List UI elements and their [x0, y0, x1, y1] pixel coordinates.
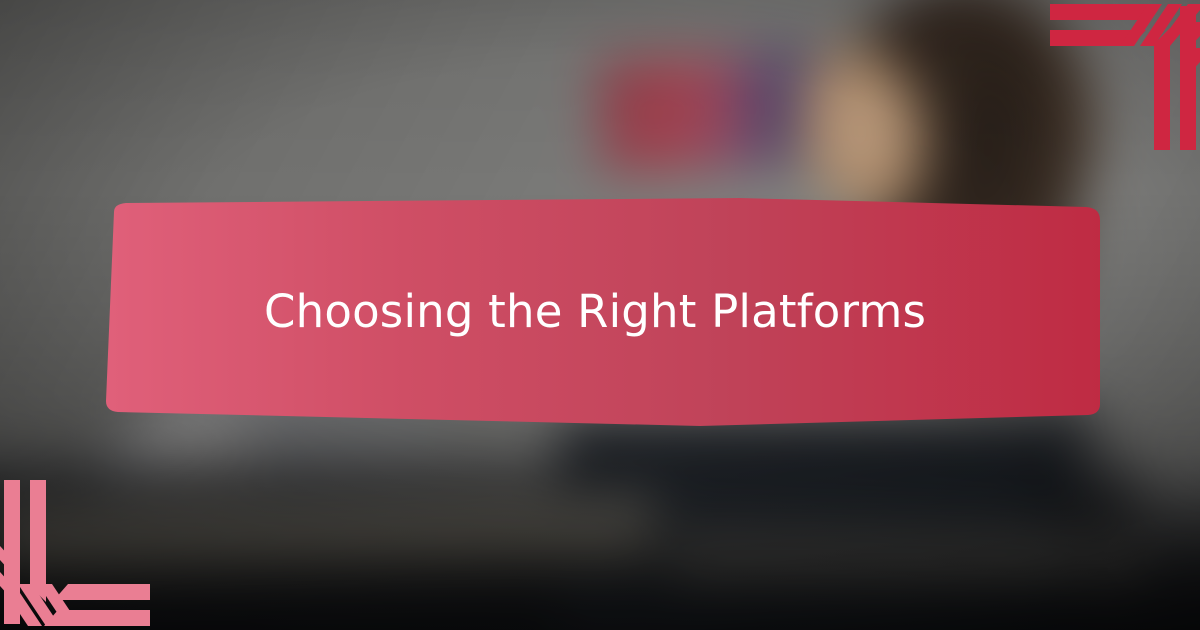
banner-title-text: Choosing the Right Platforms [100, 198, 1100, 426]
social-card: Choosing the Right Platforms [0, 0, 1200, 630]
corner-bracket-top-right [1030, 0, 1200, 170]
corner-bracket-bottom-left [0, 460, 170, 630]
title-banner: Choosing the Right Platforms [100, 198, 1100, 426]
